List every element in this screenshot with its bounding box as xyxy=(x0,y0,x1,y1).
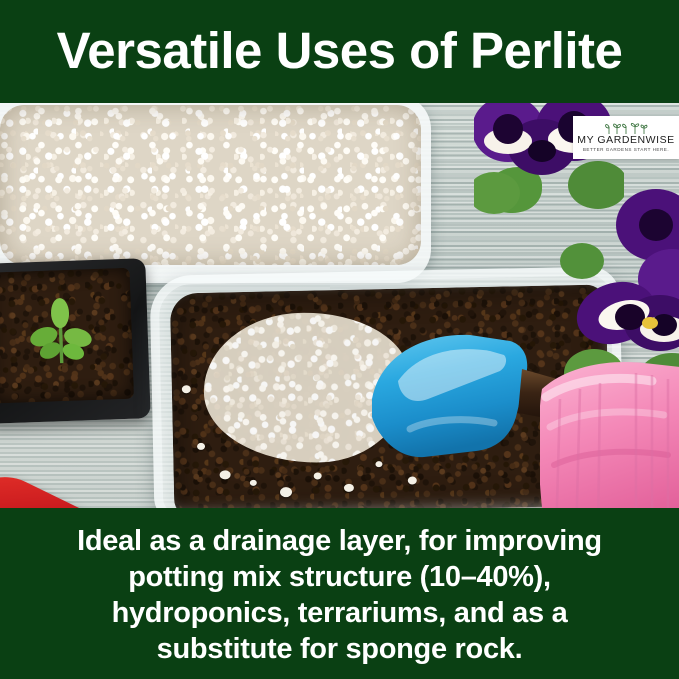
gardening-glove xyxy=(540,353,679,508)
photo-area xyxy=(0,103,679,508)
caption-band: Ideal as a drainage layer, for improving… xyxy=(0,508,679,679)
caption-line-2: potting mix structure (10–40%), xyxy=(128,559,551,595)
perlite-tray xyxy=(0,103,431,283)
caption-line-4: substitute for sponge rock. xyxy=(157,631,523,667)
seedling-pot xyxy=(0,258,151,424)
perlite-tray-fill xyxy=(0,105,421,265)
caption-line-1: Ideal as a drainage layer, for improving xyxy=(77,523,602,559)
brand-logo-badge[interactable]: MY GARDENWISE BETTER GARDENS START HERE. xyxy=(573,116,679,159)
page-title: Versatile Uses of Perlite xyxy=(57,25,623,79)
logo-brand-name: MY GARDENWISE xyxy=(577,135,674,146)
logo-tagline: BETTER GARDENS START HERE. xyxy=(583,148,669,153)
header-band: Versatile Uses of Perlite xyxy=(0,0,679,103)
seedling-plant-icon xyxy=(28,294,92,366)
seedling-sprout-icon xyxy=(603,123,649,134)
perlite-uses-infographic-card: Versatile Uses of Perlite xyxy=(0,0,679,679)
caption-line-3: hydroponics, terrariums, and as a xyxy=(112,595,568,631)
